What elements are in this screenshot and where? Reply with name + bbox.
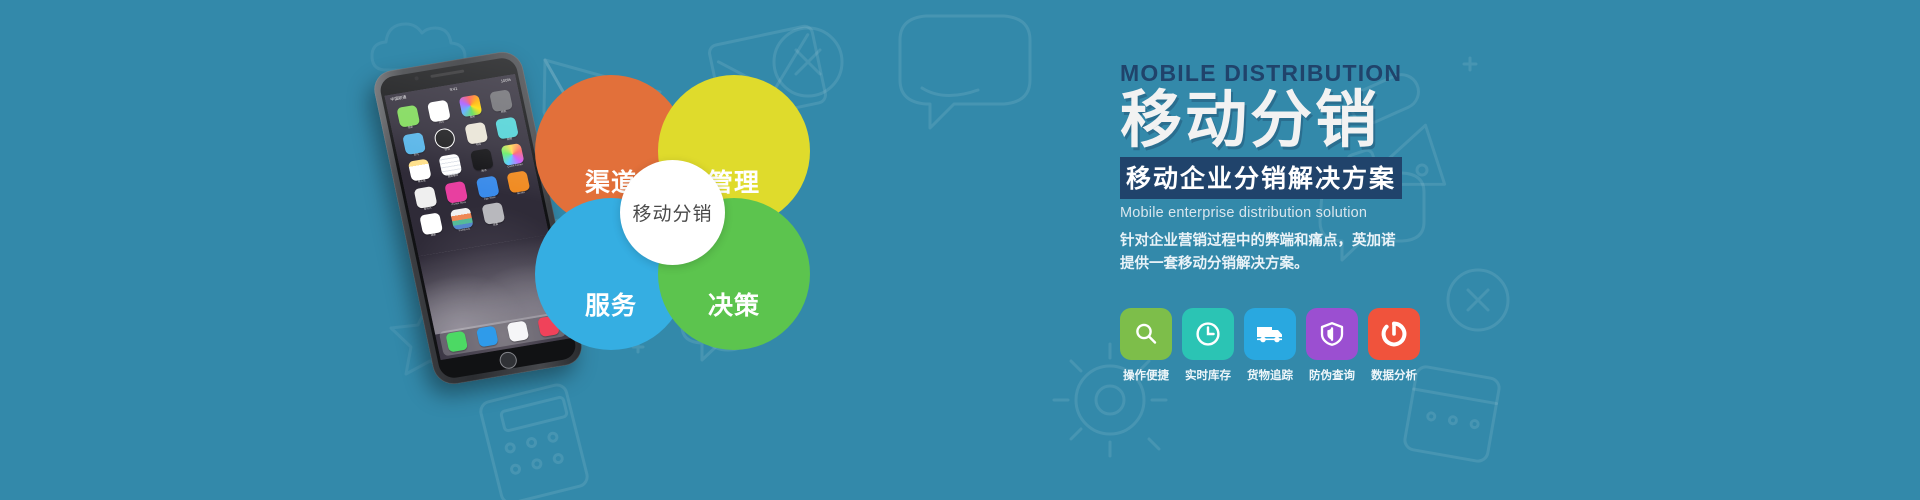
phone-app-grid: 信息 日历 照片 相机 天气 时钟 地图 视频 备忘录 提醒事项 股市 Game…: [392, 89, 540, 240]
app-icon[interactable]: 地图: [460, 121, 492, 149]
app-label: 天气: [414, 154, 420, 157]
doodle-background: [0, 0, 1920, 500]
app-tile: [419, 213, 443, 236]
app-label: 时钟: [445, 148, 451, 151]
app-label: 视频: [507, 138, 513, 141]
feature-item-anti-counterfeit[interactable]: 防伪查询: [1306, 308, 1358, 383]
app-tile: [408, 159, 432, 182]
circle-x-doodle: [1448, 270, 1508, 330]
app-tile: [450, 208, 474, 231]
feature-tile: [1182, 308, 1234, 360]
dock-icon-safari[interactable]: [507, 320, 530, 342]
app-icon[interactable]: Passbook: [446, 207, 478, 235]
feature-item-realtime-stock[interactable]: 实时库存: [1182, 308, 1234, 383]
app-tile: [464, 121, 488, 144]
feature-label: 货物追踪: [1247, 367, 1293, 383]
page-title: 移动分销: [1120, 89, 1460, 152]
app-label: 备忘录: [418, 180, 426, 184]
diagram-center-label: 移动分销: [632, 199, 712, 226]
app-tile: [481, 202, 505, 225]
feature-tile: [1120, 308, 1172, 360]
diagram-center[interactable]: 移动分销: [620, 160, 725, 265]
app-icon[interactable]: 设置: [478, 202, 510, 230]
feature-item-data-analysis[interactable]: 数据分析: [1368, 308, 1420, 383]
feature-item-easy-operation[interactable]: 操作便捷: [1120, 308, 1172, 383]
petal-label: 决策: [708, 286, 760, 322]
description-line-2: 提供一套移动分销解决方案。: [1120, 253, 1460, 275]
feature-tile: [1244, 308, 1296, 360]
petal-label: 服务: [585, 286, 637, 322]
app-label: 日历: [439, 121, 445, 124]
app-tile: [402, 132, 426, 155]
app-icon[interactable]: 时钟: [429, 126, 461, 154]
app-label: iTunes Store: [451, 202, 466, 207]
app-icon[interactable]: App Store: [472, 175, 504, 203]
subtitle-english: Mobile enterprise distribution solution: [1120, 205, 1460, 221]
app-icon[interactable]: 日历: [424, 99, 456, 127]
app-icon[interactable]: iBooks: [503, 170, 535, 198]
feature-item-cargo-tracking[interactable]: 货物追踪: [1244, 308, 1296, 383]
app-tile: [439, 154, 463, 177]
feature-tile: [1368, 308, 1420, 360]
app-icon[interactable]: 照片: [455, 94, 487, 122]
app-tile: [396, 105, 420, 128]
app-label: 信息: [408, 127, 414, 130]
app-icon[interactable]: iTunes Store: [441, 180, 473, 208]
app-icon[interactable]: 备忘录: [404, 158, 436, 186]
app-tile: [489, 89, 513, 112]
feature-label: 操作便捷: [1123, 367, 1169, 383]
app-label: 报刊亢: [424, 207, 432, 211]
app-tile: [433, 127, 457, 150]
pie-chart-icon: [1380, 320, 1408, 348]
description-line-1: 针对企业营销过程中的弊端和痛点，英加诺: [1120, 230, 1460, 252]
chat-bubble-doodle: [900, 16, 1030, 128]
app-label: 地图: [476, 143, 482, 146]
app-tile: [458, 94, 482, 117]
feature-tile: [1306, 308, 1358, 360]
status-battery: 100%: [500, 77, 511, 84]
app-label: 照片: [470, 116, 476, 119]
dock-icon-phone[interactable]: [445, 331, 468, 353]
subtitle-bar: 移动企业分销解决方案: [1120, 157, 1402, 199]
app-icon[interactable]: 天气: [398, 131, 430, 159]
app-tile: [507, 170, 531, 193]
app-label: 设置: [493, 224, 499, 227]
app-tile: [476, 175, 500, 198]
app-icon[interactable]: 提醒事项: [435, 153, 467, 181]
app-label: 股市: [481, 170, 487, 173]
app-label: 提醒事项: [448, 175, 459, 179]
app-label: iBooks: [517, 192, 525, 196]
feature-label: 防伪查询: [1309, 367, 1355, 383]
promo-banner: 中国联通 9:41 100% 信息 日历 照片 相机 天气 时钟 地图 视频 备…: [0, 0, 1920, 500]
app-icon[interactable]: 视频: [491, 116, 523, 144]
app-icon[interactable]: 股市: [466, 148, 498, 176]
app-label: 健康: [431, 235, 437, 238]
shield-icon: [1318, 320, 1346, 348]
truck-icon: [1255, 319, 1285, 349]
feature-list: 操作便捷 实时库存 货物追踪: [1120, 308, 1420, 383]
app-icon[interactable]: 相机: [486, 89, 518, 117]
app-icon[interactable]: Game Center: [497, 143, 529, 171]
app-icon[interactable]: 信息: [392, 104, 424, 132]
app-icon[interactable]: 报刊亢: [410, 185, 442, 213]
app-icon[interactable]: 健康: [415, 212, 447, 240]
feature-label: 实时库存: [1185, 367, 1231, 383]
clock-icon: [1194, 320, 1222, 348]
status-time: 9:41: [449, 86, 458, 92]
eyebrow-text: MOBILE DISTRIBUTION: [1120, 62, 1460, 85]
app-label: 相机: [501, 111, 507, 114]
app-tile: [470, 148, 494, 171]
app-label: App Store: [484, 197, 496, 201]
venn-diagram: 渠道 管理 服务 决策 移动分销: [535, 75, 810, 350]
copy-block: MOBILE DISTRIBUTION 移动分销 移动企业分销解决方案 Mobi…: [1120, 62, 1460, 275]
app-label: Game Center: [507, 164, 523, 169]
status-carrier: 中国联通: [390, 94, 407, 103]
app-tile: [495, 116, 519, 139]
app-label: Passbook: [459, 229, 471, 233]
search-icon: [1132, 320, 1160, 348]
dock-icon-mail[interactable]: [476, 326, 499, 348]
app-tile: [413, 186, 437, 209]
feature-label: 数据分析: [1371, 367, 1417, 383]
app-tile: [427, 100, 451, 123]
